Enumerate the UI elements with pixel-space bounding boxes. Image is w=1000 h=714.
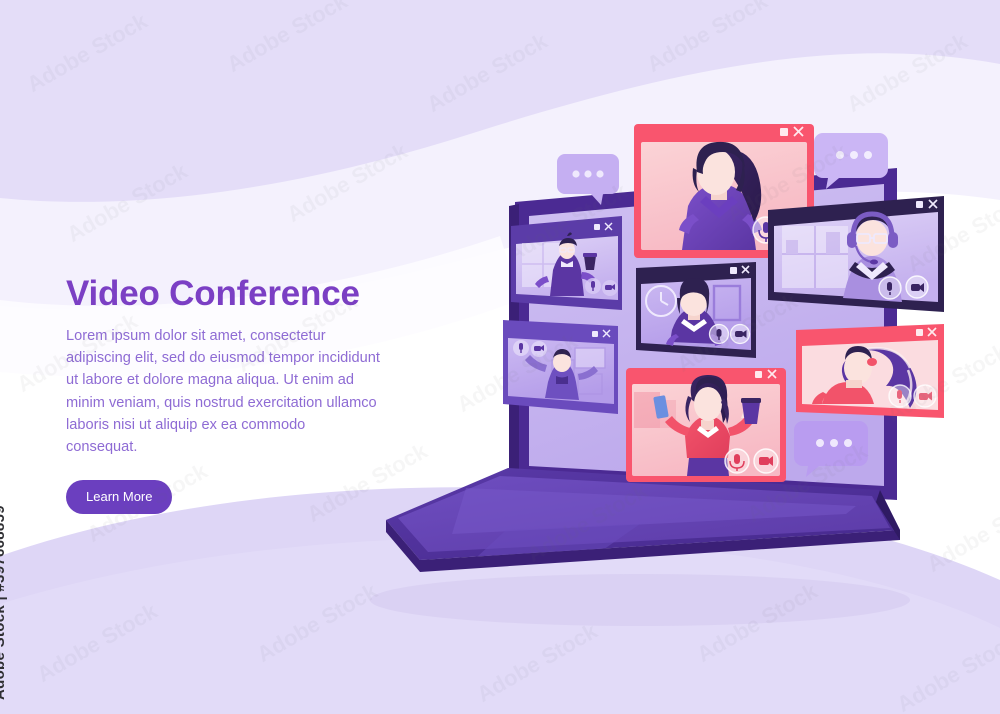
bubble-dot: [864, 151, 872, 159]
microphone-icon: [887, 282, 892, 291]
maximize-icon: [755, 371, 762, 378]
bubble-dot: [830, 439, 838, 447]
maximize-icon: [916, 329, 923, 336]
hero-copy-block: Video Conference Lorem ipsum dolor sit a…: [66, 276, 396, 514]
coffee-cup: [742, 402, 760, 424]
video-window-bottom-center[interactable]: [626, 368, 786, 482]
headphone-cup: [847, 232, 857, 248]
laptop-shadow: [370, 574, 910, 626]
maximize-icon: [780, 128, 788, 136]
camera-icon: [735, 331, 743, 337]
microphone-icon: [717, 329, 722, 337]
bubble-dot: [572, 170, 579, 177]
stock-id-watermark: Adobe Stock | #397668859: [0, 505, 8, 700]
bubble-dot: [584, 170, 591, 177]
video-window-left-upper[interactable]: [511, 216, 622, 310]
bubble-dot: [844, 439, 852, 447]
camera-icon: [911, 284, 920, 291]
microphone-icon: [734, 454, 740, 464]
headphone-cup: [888, 232, 898, 248]
camera-icon: [919, 393, 928, 400]
maximize-icon: [730, 267, 737, 274]
bubble-dot: [850, 151, 858, 159]
video-window-right[interactable]: [796, 324, 944, 418]
learn-more-button[interactable]: Learn More: [66, 480, 172, 514]
microphone-icon: [519, 343, 523, 350]
illustration-canvas: Adobe Stock Adobe Stock Adobe Stock Adob…: [0, 0, 1000, 714]
bubble-dot: [836, 151, 844, 159]
maximize-icon: [916, 201, 923, 208]
room-window-pane: [782, 226, 848, 288]
video-window-top-right[interactable]: [768, 196, 944, 312]
camera-icon: [605, 285, 612, 290]
bubble-dot: [816, 439, 824, 447]
microphone-icon: [897, 390, 902, 399]
maximize-icon: [594, 224, 600, 230]
microphone-icon: [591, 281, 595, 288]
camera-icon: [759, 457, 769, 465]
video-window-left-lower[interactable]: [503, 320, 618, 414]
bubble-dot: [596, 170, 603, 177]
video-window-center[interactable]: [636, 262, 756, 358]
hero-description: Lorem ipsum dolor sit amet, consectetur …: [66, 325, 380, 458]
maximize-icon: [592, 331, 598, 337]
page-title: Video Conference: [66, 276, 396, 311]
coffee-cup: [584, 256, 596, 270]
camera-icon: [534, 346, 541, 351]
